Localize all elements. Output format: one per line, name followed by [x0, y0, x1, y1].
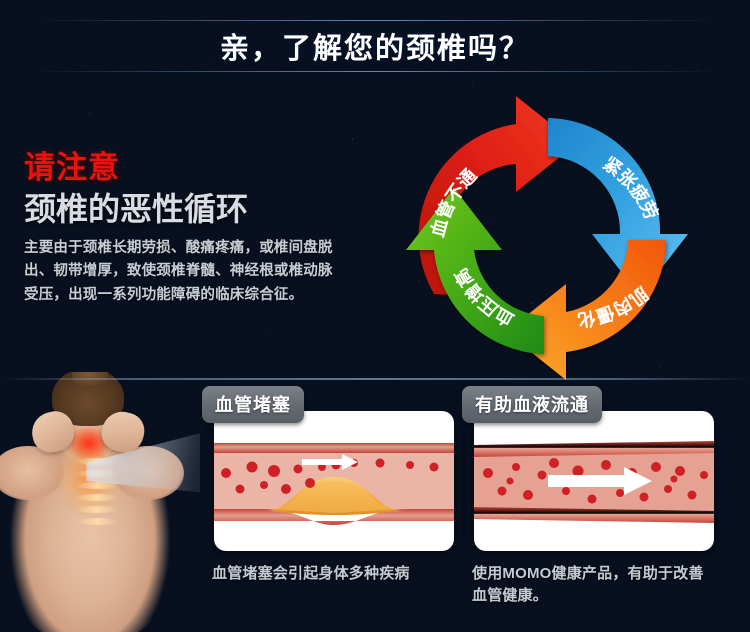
healthy-vessel-illustration: [474, 433, 714, 529]
cycle-svg: 血管不通 紧张疲劳 肌肉僵化 血压增高: [398, 88, 698, 380]
cycle-segment-blue: [548, 118, 688, 296]
status-badge: 血管堵塞: [202, 386, 304, 423]
page-title: 亲，了解您的颈椎吗？: [220, 25, 530, 67]
poster-root: 亲，了解您的颈椎吗？ 请注意 颈椎的恶性循环 主要由于颈椎长期劳损、酸痛疼痛，或…: [0, 0, 750, 632]
vicious-cycle-diagram: 血管不通 紧张疲劳 肌肉僵化 血压增高: [398, 88, 698, 380]
main-heading: 颈椎的恶性循环: [24, 193, 354, 225]
status-badge: 有助血液流通: [462, 386, 602, 423]
left-text-block: 请注意 颈椎的恶性循环 主要由于颈椎长期劳损、酸痛疼痛，或椎间盘脱出、韧带增厚，…: [24, 152, 354, 307]
blocked-vessel-illustration: [214, 433, 454, 529]
illustration-card-healthy: [474, 411, 714, 551]
neck-pain-photo: [0, 372, 200, 632]
panel-caption: 血管堵塞会引起身体多种疾病: [198, 563, 454, 585]
panel-healthy-vessel: 有助血液流通: [458, 386, 714, 607]
warning-heading: 请注意: [24, 152, 354, 183]
panel-caption: 使用MOMO健康产品，有助于改善血管健康。: [458, 563, 714, 607]
vertebra-shape: [75, 494, 119, 501]
panel-blocked-vessel: 血管堵塞: [198, 386, 454, 585]
illustration-card-blocked: [214, 411, 454, 551]
vertebra-shape: [75, 506, 119, 513]
horizontal-divider: [0, 378, 750, 380]
body-paragraph: 主要由于颈椎长期劳损、酸痛疼痛，或椎间盘脱出、韧带增厚，致使颈椎脊髓、神经根或椎…: [24, 237, 344, 307]
title-banner: 亲，了解您的颈椎吗？: [0, 20, 750, 72]
vertebra-shape: [75, 518, 119, 525]
